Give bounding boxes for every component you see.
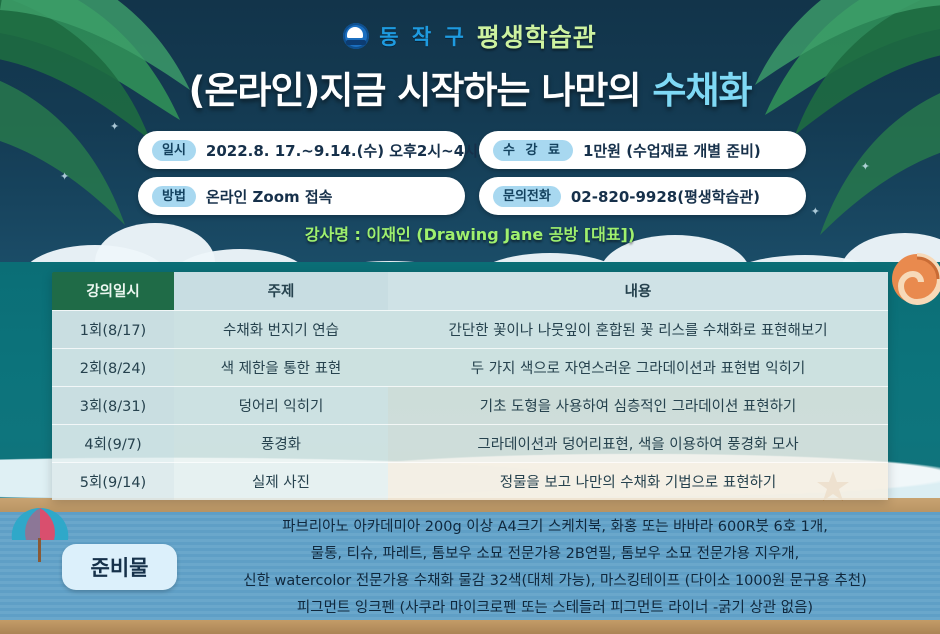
table-row: 1회(8/17) 수채화 번지기 연습 간단한 꽃이나 나뭇잎이 혼합된 꽃 리… [52,310,888,348]
info-pill-value: 2022.8. 17.~9.14.(수) 오후2시~4시 [206,140,478,161]
schedule-table-head: 강의일시 주제 내용 [52,272,888,310]
sparkle-icon: ✦ [811,205,820,218]
info-pill-grid: 일시 2022.8. 17.~9.14.(수) 오후2시~4시 수 강 료 1만… [138,131,806,215]
info-pill-tag: 방법 [152,186,196,207]
info-pill-value: 온라인 Zoom 접속 [206,186,333,207]
poster-root: ✦ ✦ ✦ ✦ [0,0,940,634]
materials-section: 준비물 파브리아노 아카데미아 200g 이상 A4크기 스케치북, 화홍 또는… [0,512,940,624]
column-header-content: 내용 [388,272,888,310]
cell-content: 간단한 꽃이나 나뭇잎이 혼합된 꽃 리스를 수채화로 표현해보기 [388,310,888,348]
page-title-highlight: 수채화 [652,69,751,112]
cell-content: 정물을 보고 나만의 수채화 기법으로 표현하기 [388,462,888,500]
cell-topic: 덩어리 익히기 [174,386,388,424]
materials-line: 피그먼트 잉크펜 (사쿠라 마이크로펜 또는 스테들러 피그먼트 라이너 -굵기… [185,595,925,622]
dongjak-gu-logo-icon [343,23,369,49]
cell-topic: 수채화 번지기 연습 [174,310,388,348]
district-name: 동 작 구 [379,21,467,51]
sparkle-icon: ✦ [60,170,69,183]
materials-line: 물통, 티슈, 파레트, 톰보우 소묘 전문가용 2B연필, 톰보우 소묘 전문… [185,541,925,568]
info-pill-date: 일시 2022.8. 17.~9.14.(수) 오후2시~4시 [138,131,465,169]
info-pill-fee: 수 강 료 1만원 (수업재료 개별 준비) [479,131,806,169]
materials-list: 파브리아노 아카데미아 200g 이상 A4크기 스케치북, 화홍 또는 바바라… [185,514,925,622]
info-pill-value: 02-820-9928(평생학습관) [571,186,760,207]
info-pill-method: 방법 온라인 Zoom 접속 [138,177,465,215]
table-row: 3회(8/31) 덩어리 익히기 기초 도형을 사용하여 심층적인 그라데이션 … [52,386,888,424]
table-row: 2회(8/24) 색 제한을 통한 표현 두 가지 색으로 자연스러운 그라데이… [52,348,888,386]
center-name: 평생학습관 [477,18,597,54]
shell-icon [888,250,940,308]
instructor-line: 강사명 : 이재인 (Drawing Jane 공방 [대표]) [0,221,940,245]
info-pill-tag: 문의전화 [493,186,561,207]
table-header-row: 강의일시 주제 내용 [52,272,888,310]
cell-date: 5회(9/14) [52,462,174,500]
brand-line: 동 작 구 평생학습관 [0,18,940,54]
page-title-prefix: (온라인)지금 시작하는 나만의 [188,69,652,112]
sparkle-icon: ✦ [110,120,119,133]
schedule-table-wrapper: 강의일시 주제 내용 1회(8/17) 수채화 번지기 연습 간단한 꽃이나 나… [52,272,888,500]
table-row: 4회(9/7) 풍경화 그라데이션과 덩어리표현, 색을 이용하여 풍경화 모사 [52,424,888,462]
column-header-topic: 주제 [174,272,388,310]
info-pill-tag: 수 강 료 [493,140,573,161]
page-title: (온라인)지금 시작하는 나만의 수채화 [0,60,940,114]
info-pill-phone[interactable]: 문의전화 02-820-9928(평생학습관) [479,177,806,215]
cell-topic: 실제 사진 [174,462,388,500]
cell-date: 4회(9/7) [52,424,174,462]
materials-badge: 준비물 [62,544,177,590]
cell-topic: 색 제한을 통한 표현 [174,348,388,386]
cell-topic: 풍경화 [174,424,388,462]
schedule-table: 강의일시 주제 내용 1회(8/17) 수채화 번지기 연습 간단한 꽃이나 나… [52,272,888,500]
materials-line: 파브리아노 아카데미아 200g 이상 A4크기 스케치북, 화홍 또는 바바라… [185,514,925,541]
sparkle-icon: ✦ [861,160,870,173]
cell-date: 1회(8/17) [52,310,174,348]
info-pill-tag: 일시 [152,140,196,161]
cell-date: 3회(8/31) [52,386,174,424]
cell-date: 2회(8/24) [52,348,174,386]
beach-umbrella-icon [8,500,72,564]
table-row: 5회(9/14) 실제 사진 정물을 보고 나만의 수채화 기법으로 표현하기 [52,462,888,500]
materials-line: 신한 watercolor 전문가용 수채화 물감 32색(대체 가능), 마스… [185,568,925,595]
cell-content: 기초 도형을 사용하여 심층적인 그라데이션 표현하기 [388,386,888,424]
info-pill-value: 1만원 (수업재료 개별 준비) [583,140,761,161]
cell-content: 두 가지 색으로 자연스러운 그라데이션과 표현법 익히기 [388,348,888,386]
schedule-table-body: 1회(8/17) 수채화 번지기 연습 간단한 꽃이나 나뭇잎이 혼합된 꽃 리… [52,310,888,500]
cell-content: 그라데이션과 덩어리표현, 색을 이용하여 풍경화 모사 [388,424,888,462]
column-header-date: 강의일시 [52,272,174,310]
